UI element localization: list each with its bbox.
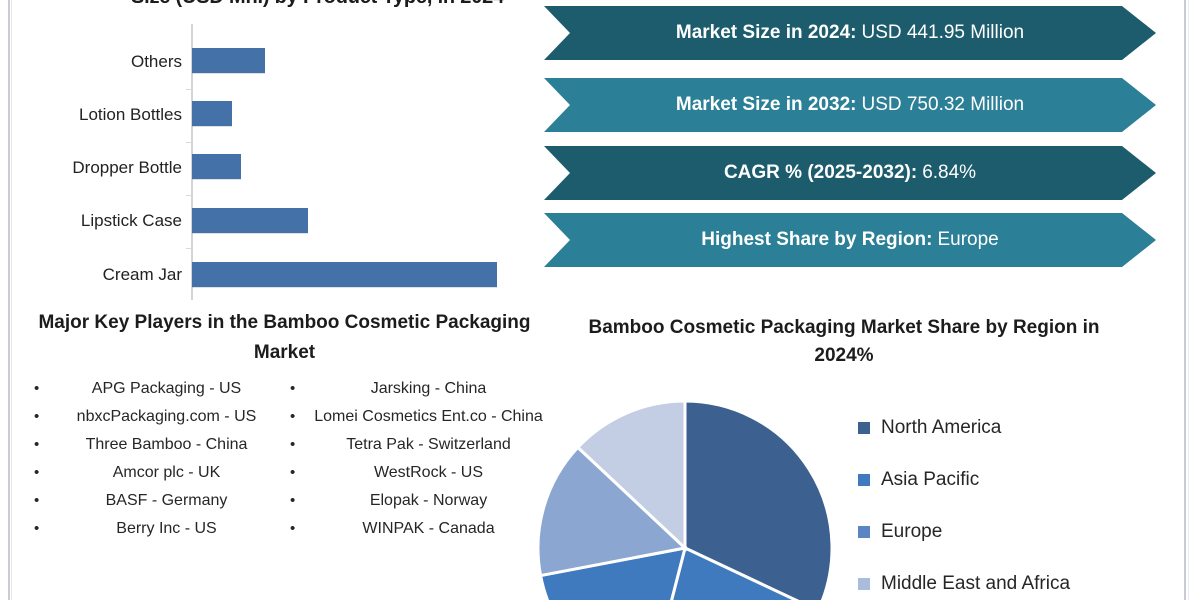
- banner-market-size-2024: Market Size in 2024: USD 441.95 Million: [544, 6, 1156, 60]
- banner-cagr: CAGR % (2025-2032): 6.84%: [544, 146, 1156, 200]
- axis-tick: [186, 89, 192, 90]
- key-players-right-column: •Jarsking - China •Lomei Cosmetics Ent.c…: [290, 376, 552, 544]
- bar-category-label: Others: [0, 52, 182, 72]
- list-item: •Tetra Pak - Switzerland: [290, 432, 552, 457]
- bullet-icon: •: [34, 376, 49, 401]
- list-item: •Three Bamboo - China: [34, 432, 284, 457]
- bullet-icon: •: [34, 516, 49, 541]
- bullet-icon: •: [290, 488, 305, 513]
- bar-category-label: Dropper Bottle: [0, 158, 182, 178]
- key-player-name: Tetra Pak - Switzerland: [305, 432, 552, 457]
- infographic-canvas: Others Lotion Bottles Dropper Bottle Lip…: [0, 0, 1200, 600]
- bar-others: [192, 48, 265, 73]
- legend-swatch: [858, 422, 870, 434]
- bar-category-label: Lipstick Case: [0, 211, 182, 231]
- key-player-name: APG Packaging - US: [49, 376, 284, 401]
- bullet-icon: •: [34, 460, 49, 485]
- list-item: •WINPAK - Canada: [290, 516, 552, 541]
- key-player-name: WestRock - US: [305, 460, 552, 485]
- banner-label: Highest Share by Region:: [701, 229, 932, 251]
- bullet-icon: •: [290, 460, 305, 485]
- key-player-name: Berry Inc - US: [49, 516, 284, 541]
- key-player-name: Jarsking - China: [305, 376, 552, 401]
- banner-label: CAGR % (2025-2032):: [724, 162, 917, 184]
- legend-swatch: [858, 526, 870, 538]
- key-metrics-banners: Market Size in 2024: USD 441.95 Million …: [544, 0, 1188, 280]
- key-player-name: Elopak - Norway: [305, 488, 552, 513]
- list-item: •Amcor plc - UK: [34, 460, 284, 485]
- pie-chart-legend: North America Asia Pacific Europe Middle…: [858, 402, 1188, 600]
- list-item: •Elopak - Norway: [290, 488, 552, 513]
- list-item: •Lomei Cosmetics Ent.co - China: [290, 404, 552, 429]
- bar-dropper-bottle: [192, 154, 241, 179]
- banner-label: Market Size in 2024:: [676, 22, 857, 44]
- legend-label: North America: [881, 417, 1001, 439]
- right-border-rule-inner: [1188, 0, 1189, 600]
- pie-chart-plot-area: [518, 368, 878, 600]
- banner-value: USD 441.95 Million: [861, 22, 1024, 44]
- key-player-name: nbxcPackaging.com - US: [49, 404, 284, 429]
- banner-highest-share-region: Highest Share by Region: Europe: [544, 213, 1156, 267]
- bar-chart-title: Size (USD Mn.) by Product Type, in 2024: [105, 0, 530, 11]
- axis-tick: [186, 248, 192, 249]
- banner-value: Europe: [937, 229, 998, 251]
- key-players-section: Major Key Players in the Bamboo Cosmetic…: [12, 300, 557, 600]
- bullet-icon: •: [34, 432, 49, 457]
- banner-label: Market Size in 2032:: [676, 94, 857, 116]
- bar-chart-plot-area: Others Lotion Bottles Dropper Bottle Lip…: [10, 0, 530, 300]
- bullet-icon: •: [290, 516, 305, 541]
- legend-swatch: [858, 578, 870, 590]
- key-player-name: WINPAK - Canada: [305, 516, 552, 541]
- list-item: •BASF - Germany: [34, 488, 284, 513]
- banner-value: 6.84%: [922, 162, 976, 184]
- bullet-icon: •: [290, 376, 305, 401]
- legend-label: Middle East and Africa: [881, 573, 1070, 595]
- list-item: •Jarsking - China: [290, 376, 552, 401]
- bullet-icon: •: [34, 488, 49, 513]
- list-item: •Berry Inc - US: [34, 516, 284, 541]
- bar-category-label: Cream Jar: [0, 265, 182, 285]
- bullet-icon: •: [290, 404, 305, 429]
- key-player-name: Three Bamboo - China: [49, 432, 284, 457]
- region-share-pie-chart: Bamboo Cosmetic Packaging Market Share b…: [544, 310, 1188, 600]
- axis-tick: [186, 195, 192, 196]
- legend-label: Asia Pacific: [881, 469, 979, 491]
- legend-label: Europe: [881, 521, 942, 543]
- bullet-icon: •: [34, 404, 49, 429]
- key-players-left-column: •APG Packaging - US •nbxcPackaging.com -…: [34, 376, 284, 544]
- bullet-icon: •: [290, 432, 305, 457]
- legend-item-europe: Europe: [858, 506, 1188, 558]
- key-player-name: Lomei Cosmetics Ent.co - China: [305, 404, 552, 429]
- list-item: •APG Packaging - US: [34, 376, 284, 401]
- list-item: •nbxcPackaging.com - US: [34, 404, 284, 429]
- key-players-title: Major Key Players in the Bamboo Cosmetic…: [22, 308, 547, 368]
- banner-market-size-2032: Market Size in 2032: USD 750.32 Million: [544, 78, 1156, 132]
- pie-chart-title: Bamboo Cosmetic Packaging Market Share b…: [564, 314, 1124, 370]
- list-item: •WestRock - US: [290, 460, 552, 485]
- bar-lipstick-case: [192, 208, 308, 233]
- legend-swatch: [858, 474, 870, 486]
- legend-item-middle-east-and-africa: Middle East and Africa: [858, 558, 1188, 600]
- legend-item-north-america: North America: [858, 402, 1188, 454]
- axis-tick: [186, 142, 192, 143]
- product-type-bar-chart: Others Lotion Bottles Dropper Bottle Lip…: [10, 0, 530, 300]
- key-player-name: BASF - Germany: [49, 488, 284, 513]
- bar-cream-jar: [192, 262, 497, 287]
- legend-item-asia-pacific: Asia Pacific: [858, 454, 1188, 506]
- pie-svg: [518, 368, 878, 600]
- key-player-name: Amcor plc - UK: [49, 460, 284, 485]
- bar-lotion-bottles: [192, 101, 232, 126]
- bar-category-label: Lotion Bottles: [0, 105, 182, 125]
- banner-value: USD 750.32 Million: [861, 94, 1024, 116]
